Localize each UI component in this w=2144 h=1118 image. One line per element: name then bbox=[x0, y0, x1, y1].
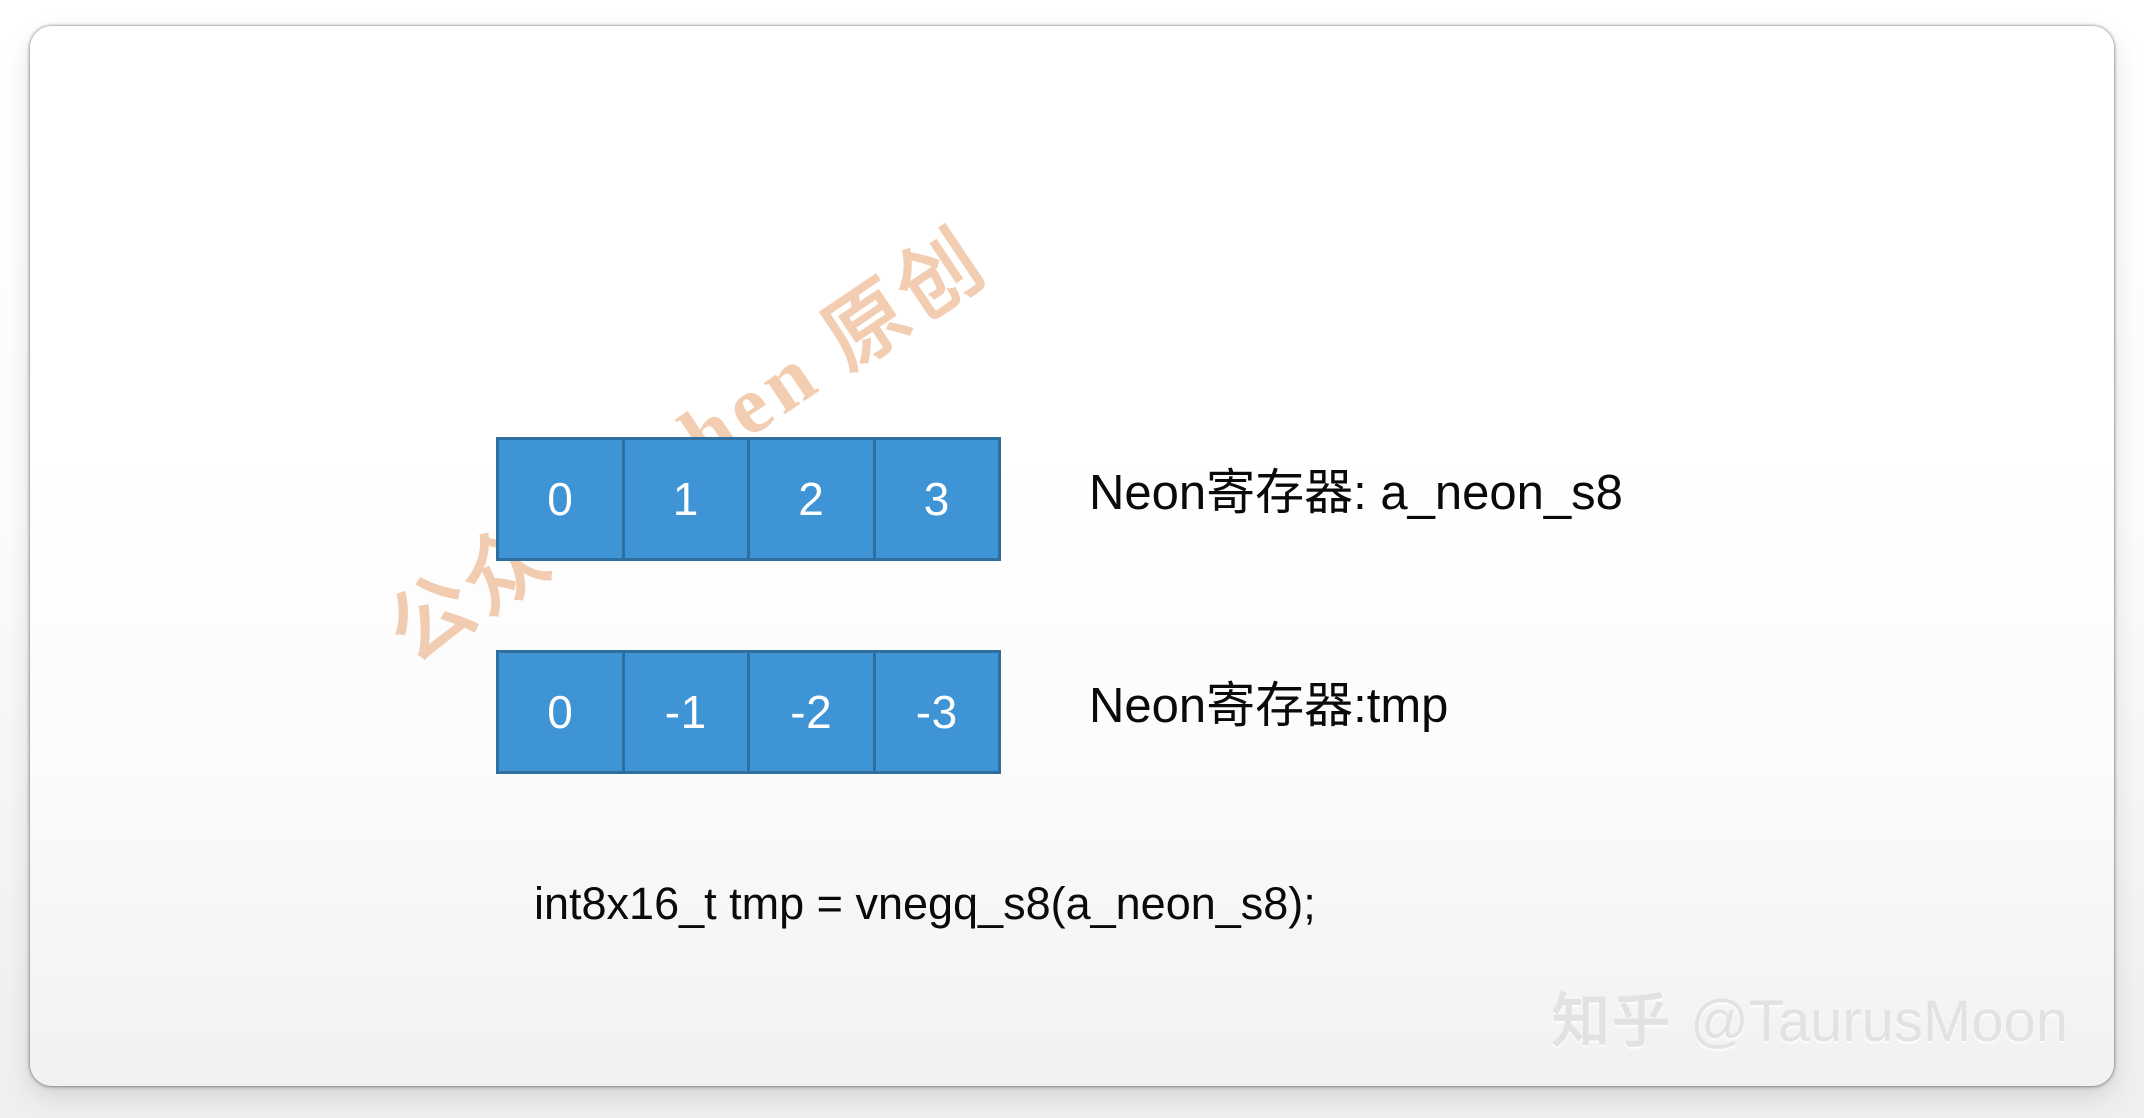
zhihu-logo: 知乎 bbox=[1552, 974, 1672, 1058]
register-cell: -3 bbox=[873, 653, 999, 771]
zhihu-handle: @TaurusMoon bbox=[1690, 988, 2068, 1055]
register-label-tmp: Neon寄存器:tmp bbox=[1089, 682, 1448, 731]
code-line: int8x16_t tmp = vnegq_s8(a_neon_s8); bbox=[534, 881, 1316, 926]
zhihu-watermark: 知乎 @TaurusMoon bbox=[1552, 974, 2068, 1058]
register-label-a-neon-s8: Neon寄存器: a_neon_s8 bbox=[1089, 469, 1623, 518]
register-cell: 1 bbox=[622, 440, 748, 558]
page-root: 公众号：hen 原创 0 1 2 3 Neon寄存器: a_neon_s8 0 … bbox=[0, 0, 2144, 1118]
slide-card: 公众号：hen 原创 0 1 2 3 Neon寄存器: a_neon_s8 0 … bbox=[30, 26, 2114, 1086]
register-cell: 3 bbox=[873, 440, 999, 558]
register-cell: -1 bbox=[622, 653, 748, 771]
register-cell: 0 bbox=[499, 440, 622, 558]
register-cell: -2 bbox=[747, 653, 873, 771]
register-cell: 0 bbox=[499, 653, 622, 771]
register-row-a-neon-s8: 0 1 2 3 bbox=[496, 437, 1001, 561]
register-row-tmp: 0 -1 -2 -3 bbox=[496, 650, 1001, 774]
register-cell: 2 bbox=[747, 440, 873, 558]
